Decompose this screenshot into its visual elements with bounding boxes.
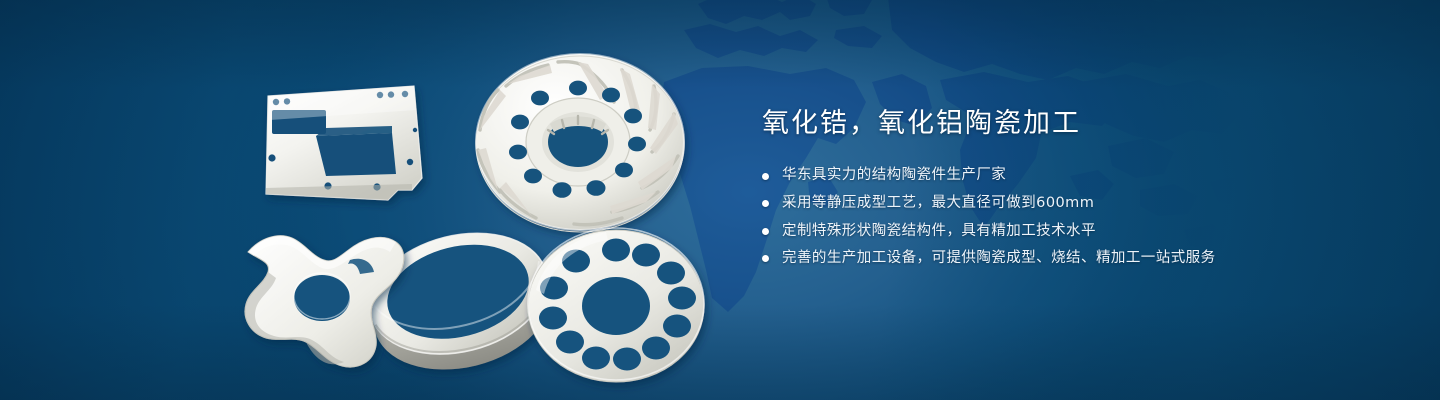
list-item-label: 华东具实力的结构陶瓷件生产厂家	[782, 166, 1006, 186]
ceramic-perforated-disc-part	[528, 228, 704, 382]
list-item: 完善的生产加工设备，可提供陶瓷成型、烧结、精加工一站式服务	[762, 249, 1382, 269]
bullet-dot-icon	[762, 228, 769, 235]
list-item: 采用等静压成型工艺，最大直径可做到600mm	[762, 194, 1382, 214]
bullet-dot-icon	[762, 173, 769, 180]
feature-list: 华东具实力的结构陶瓷件生产厂家 采用等静压成型工艺，最大直径可做到600mm 定…	[762, 166, 1382, 268]
list-item: 华东具实力的结构陶瓷件生产厂家	[762, 166, 1382, 186]
list-item-label: 完善的生产加工设备，可提供陶瓷成型、烧结、精加工一站式服务	[782, 249, 1216, 269]
ceramic-plate-part	[266, 86, 422, 200]
list-item-label: 定制特殊形状陶瓷结构件，具有精加工技术水平	[782, 222, 1096, 242]
list-item-label: 采用等静压成型工艺，最大直径可做到600mm	[782, 194, 1094, 214]
banner-copy: 氧化锆，氧化铝陶瓷加工 华东具实力的结构陶瓷件生产厂家 采用等静压成型工艺，最大…	[762, 108, 1382, 269]
bullet-dot-icon	[762, 200, 769, 207]
list-item: 定制特殊形状陶瓷结构件，具有精加工技术水平	[762, 222, 1382, 242]
ceramic-impeller-part	[476, 54, 684, 232]
ceramic-products-image	[230, 38, 710, 384]
page-title: 氧化锆，氧化铝陶瓷加工	[762, 108, 1382, 140]
hero-banner: 氧化锆，氧化铝陶瓷加工 华东具实力的结构陶瓷件生产厂家 采用等静压成型工艺，最大…	[0, 0, 1440, 400]
bullet-dot-icon	[762, 255, 769, 262]
